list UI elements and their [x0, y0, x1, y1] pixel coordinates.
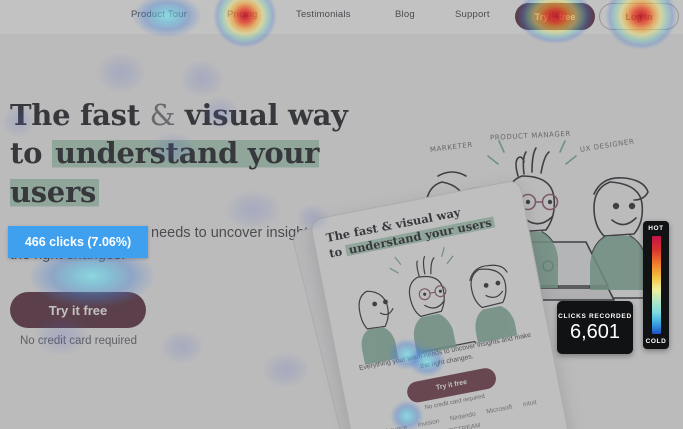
underlying-webpage: Product Tour Pricing Testimonials Blog S…: [0, 0, 683, 429]
click-tooltip: 466 clicks (7.06%): [8, 226, 148, 258]
heat-scale-legend: HOT COLD: [643, 221, 669, 349]
hero-cta-note: No credit card required: [20, 335, 137, 347]
heatmap-screenshot: Product Tour Pricing Testimonials Blog S…: [0, 0, 683, 429]
nav-link-product-tour[interactable]: Product Tour: [131, 9, 187, 20]
nav-link-pricing[interactable]: Pricing: [227, 9, 257, 20]
legend-hot-label: HOT: [648, 225, 664, 232]
logo-unbounce: unbounce: [378, 424, 407, 429]
logo-nintendo: Nintendo: [449, 411, 476, 423]
headline-text-1: The fast: [10, 98, 150, 132]
hero-try-it-free-button[interactable]: Try it free: [10, 292, 146, 328]
tooltip-label: 466 clicks (7.06%): [25, 235, 131, 249]
nav-login-button[interactable]: Log in: [599, 3, 679, 30]
headline-highlight: understand your users: [10, 136, 319, 208]
headline-line2-prefix: to: [10, 136, 52, 170]
logo-invision: invision: [417, 418, 440, 429]
clicks-recorded-value: 6,601: [570, 322, 620, 342]
legend-gradient-bar: [652, 236, 661, 334]
logo-microsoft: Microsoft: [486, 404, 513, 416]
clicks-recorded-label: CLICKS RECORDED: [558, 313, 632, 320]
site-navbar: Product Tour Pricing Testimonials Blog S…: [0, 0, 683, 34]
headline-text-2: visual way: [175, 98, 348, 132]
logo-livestream: LIVESTREAM: [439, 422, 481, 429]
clicks-recorded-badge: CLICKS RECORDED 6,601: [557, 301, 633, 354]
legend-cold-label: COLD: [646, 338, 667, 345]
logo-intuit: intuit: [522, 399, 537, 408]
nav-link-blog[interactable]: Blog: [395, 9, 415, 20]
nav-link-testimonials[interactable]: Testimonials: [296, 9, 351, 20]
nav-link-support[interactable]: Support: [455, 9, 490, 20]
hero-headline: The fast & visual way to understand your…: [10, 96, 410, 211]
nav-try-it-free-button[interactable]: Try it free: [515, 3, 595, 30]
headline-ampersand: &: [150, 98, 176, 132]
